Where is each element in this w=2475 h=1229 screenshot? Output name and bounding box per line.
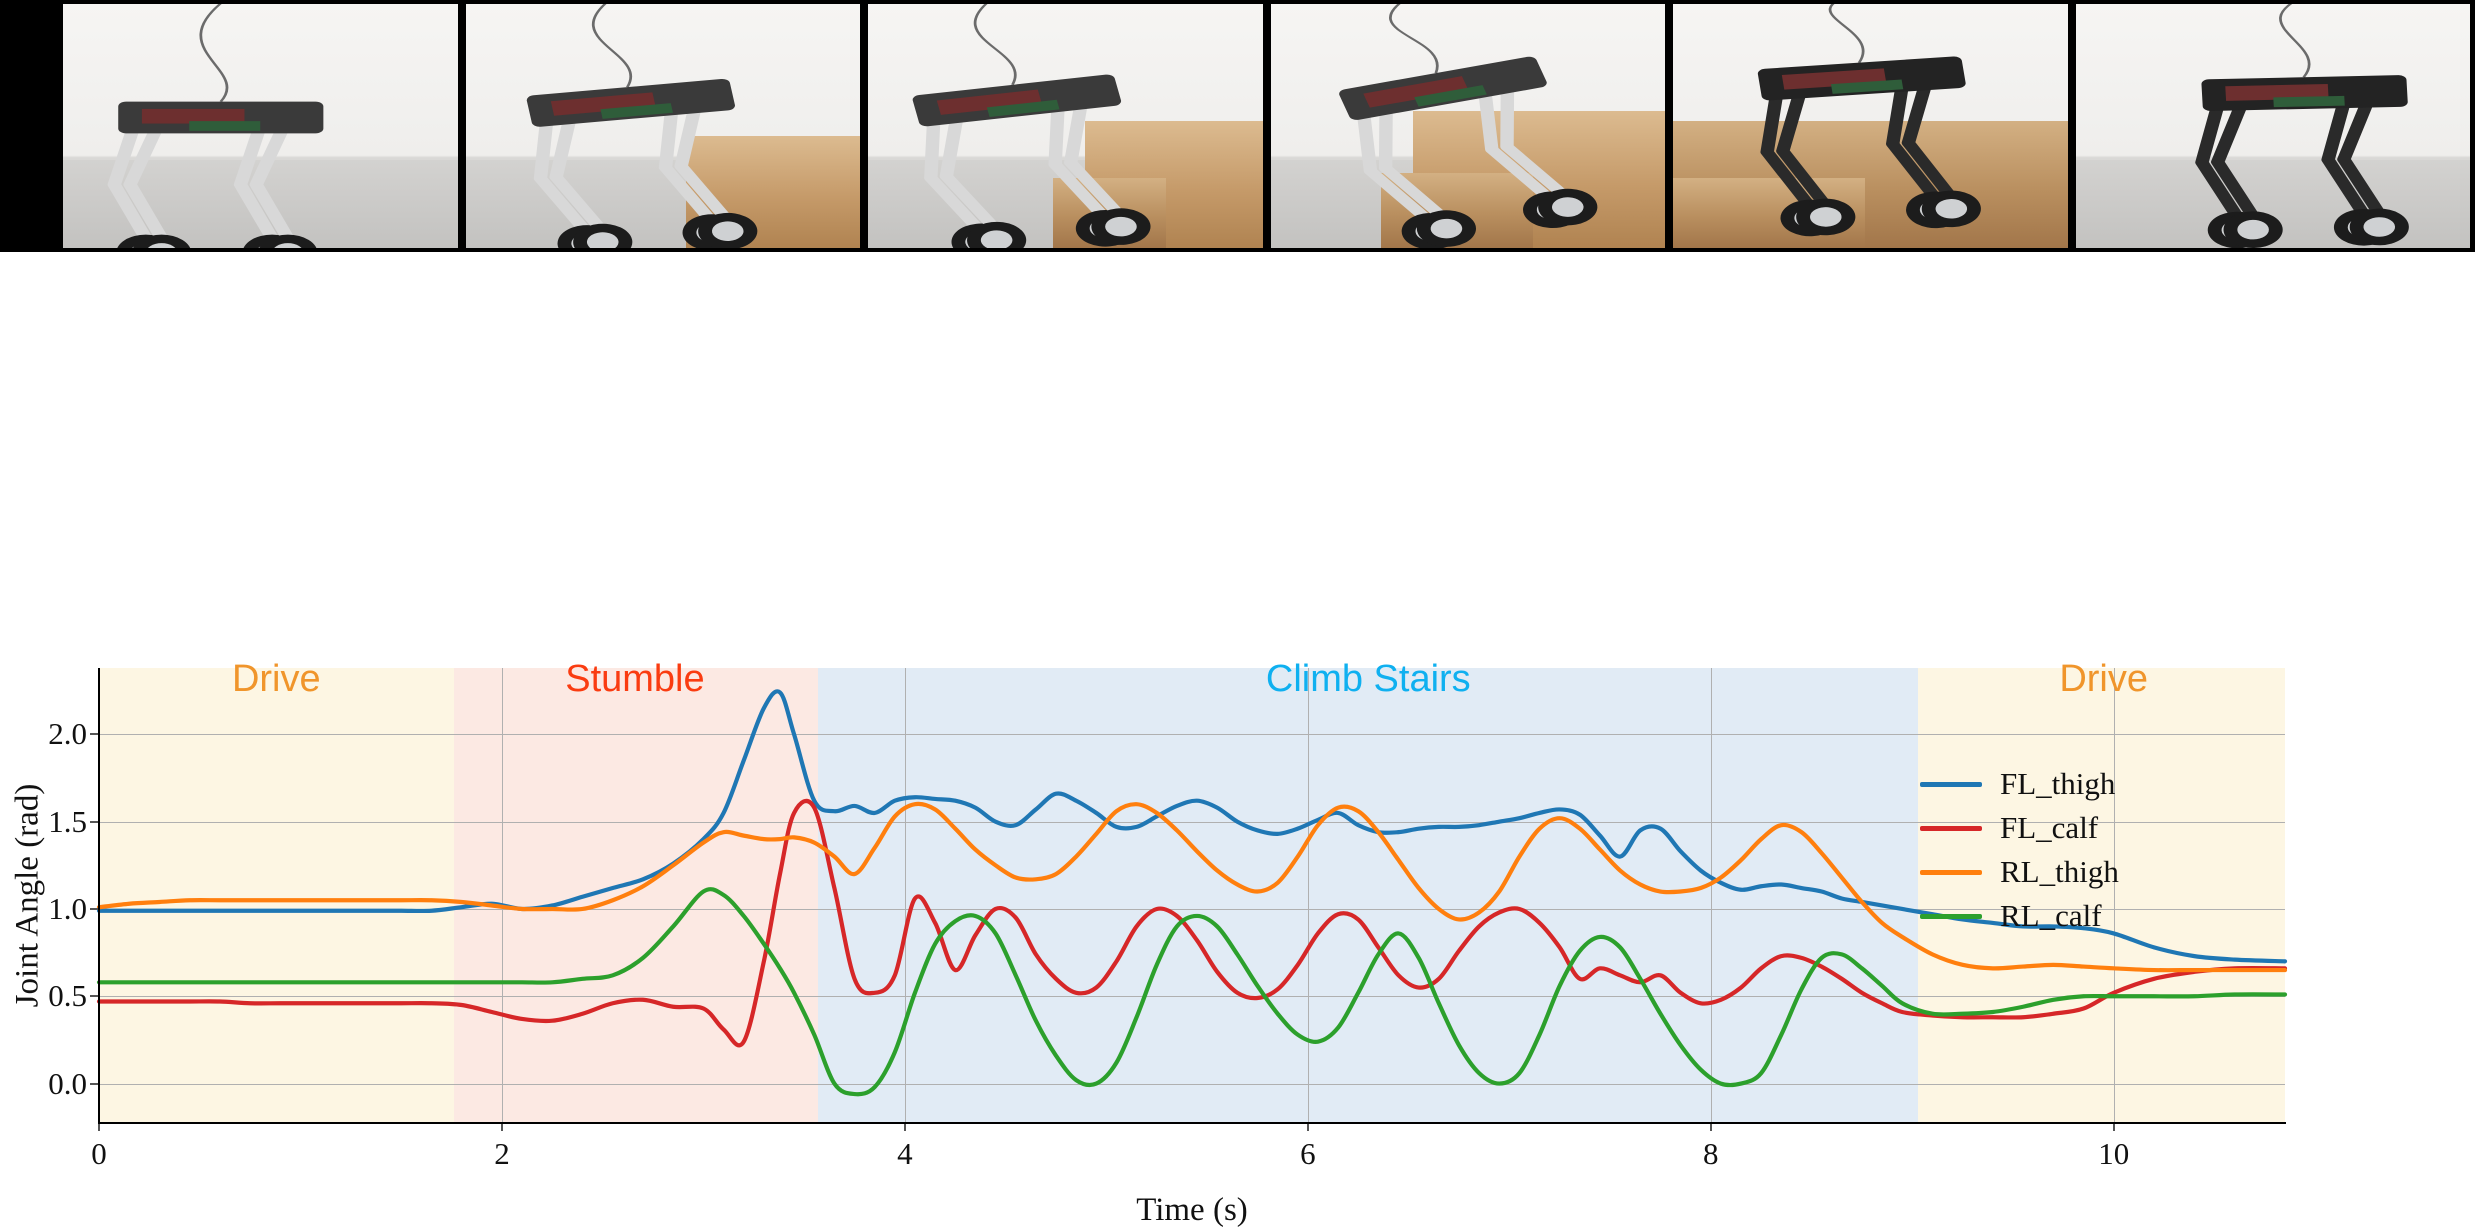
x-tick-label: 8 [1703, 1136, 1719, 1172]
filmstrip [0, 0, 2475, 252]
robot-circuit-board [2273, 96, 2345, 107]
legend-item[interactable]: FL_calf [1920, 806, 2220, 850]
x-tick-label: 10 [2098, 1136, 2129, 1172]
legend-label: FL_calf [2000, 810, 2098, 846]
legend-item[interactable]: FL_thigh [1920, 762, 2220, 806]
robot-illustration [466, 4, 861, 248]
y-tick-label: 0.0 [48, 1066, 87, 1102]
legend-color-swatch [1920, 826, 1982, 831]
legend-color-swatch [1920, 914, 1982, 919]
filmstrip-frame-3 [868, 4, 1263, 248]
tether-cable [2278, 4, 2319, 78]
robot-illustration [63, 4, 458, 248]
legend-label: RL_thigh [2000, 854, 2119, 890]
y-tick-label: 0.5 [48, 978, 87, 1014]
phase-label-climb-stairs: Climb Stairs [1266, 658, 1471, 701]
filmstrip-frame-5 [1673, 4, 2068, 248]
tether-cable [1827, 4, 1875, 64]
filmstrip-frame-1 [63, 4, 458, 248]
phase-label-drive: Drive [2059, 658, 2148, 701]
robot-illustration [1271, 4, 1666, 248]
filmstrip-frame-2 [466, 4, 861, 248]
robot-illustration [868, 4, 1263, 248]
robot-illustration [2076, 4, 2471, 248]
robot-illustration [1673, 4, 2068, 248]
x-axis-title: Time (s) [99, 1192, 2285, 1229]
y-axis-title: Joint Angle (rad) [8, 668, 48, 1122]
axis-spine-bottom [98, 1122, 2286, 1124]
tether-cable [586, 4, 643, 89]
legend-color-swatch [1920, 782, 1982, 787]
chart-legend: FL_thighFL_calfRL_thighRL_calf [1920, 762, 2220, 938]
axis-spine-left [98, 668, 100, 1122]
phase-label-stumble: Stumble [565, 658, 704, 701]
x-tick-label: 0 [91, 1136, 107, 1172]
tether-cable [201, 4, 237, 102]
joint-angle-chart: Joint Angle (rad) Time (s) 0.00.51.01.52… [0, 252, 2475, 994]
legend-color-swatch [1920, 870, 1982, 875]
x-tick-label: 2 [494, 1136, 510, 1172]
filmstrip-frame-4 [1271, 4, 1666, 248]
y-tick-label: 1.0 [48, 891, 87, 927]
x-tick-label: 4 [897, 1136, 913, 1172]
y-tick-label: 2.0 [48, 716, 87, 752]
tether-cable [967, 4, 1028, 87]
legend-item[interactable]: RL_calf [1920, 894, 2220, 938]
x-tick-label: 6 [1300, 1136, 1316, 1172]
y-tick-label: 1.5 [48, 804, 87, 840]
tether-cable [1380, 4, 1450, 76]
legend-label: FL_thigh [2000, 766, 2115, 802]
legend-item[interactable]: RL_thigh [1920, 850, 2220, 894]
filmstrip-frame-6 [2076, 4, 2471, 248]
legend-label: RL_calf [2000, 898, 2102, 934]
phase-label-drive: Drive [232, 658, 321, 701]
robot-circuit-board [189, 121, 260, 131]
